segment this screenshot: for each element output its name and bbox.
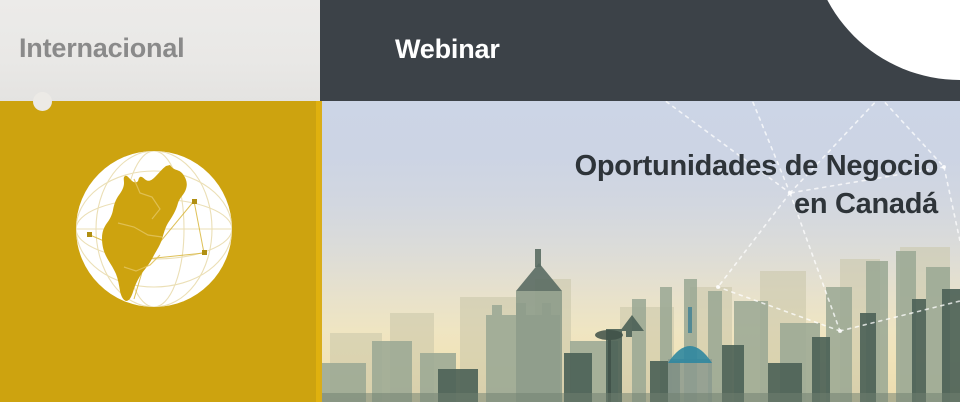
photo-left-edge-rule (320, 101, 322, 402)
headline-line-2: en Canadá (794, 188, 938, 220)
brand-panel: global Sumem per a obrir-te al món (0, 101, 320, 402)
brand-name: global (48, 397, 213, 402)
section-label-band: Internacional (0, 0, 320, 101)
webinar-promo-banner: Internacional Webinar (0, 0, 960, 402)
headline: Oportunidades de Negocio en Canadá (378, 147, 938, 223)
headline-line-1: Oportunidades de Negocio (575, 150, 938, 182)
section-label: Internacional (19, 33, 184, 64)
city-skyline-photo: Oportunidades de Negocio en Canadá (320, 101, 960, 402)
event-type-label: Webinar (395, 34, 500, 65)
notch-decoration (33, 92, 52, 111)
rounded-corner-cut-decoration (810, 0, 960, 80)
globe-map-icon (74, 149, 234, 309)
banner-header-strip: Internacional Webinar (0, 0, 960, 101)
